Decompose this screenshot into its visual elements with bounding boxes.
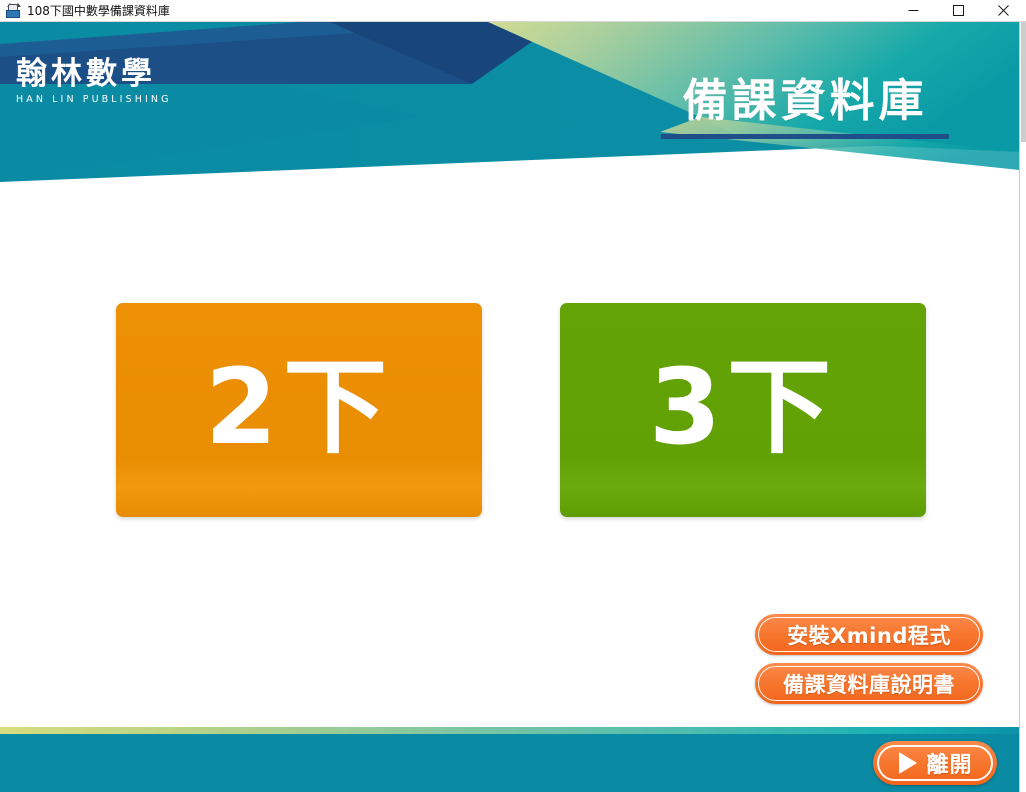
play-triangle-icon	[899, 752, 917, 774]
footer-bar: 離開	[0, 727, 1019, 792]
app-icon	[5, 3, 21, 19]
manual-button[interactable]: 備課資料庫說明書	[755, 663, 983, 704]
exit-label: 離開	[926, 747, 972, 779]
grade-selection-row: 2下 3下	[0, 303, 1019, 519]
footer-gradient-strip	[0, 727, 1019, 734]
header-banner: 翰林數學 HAN LIN PUBLISHING 備課資料庫	[0, 22, 1019, 182]
close-button[interactable]	[981, 0, 1026, 21]
grade-2-second-semester-button[interactable]: 2下	[116, 303, 482, 517]
maximize-button[interactable]	[936, 0, 981, 21]
grade-3-label: 3下	[649, 355, 837, 459]
grade-3-second-semester-button[interactable]: 3下	[560, 303, 926, 517]
exit-button[interactable]: 離開	[873, 741, 997, 785]
footer-background	[0, 734, 1019, 792]
window-controls	[891, 0, 1026, 21]
manual-label: 備課資料庫說明書	[783, 669, 955, 699]
utility-links: 安裝Xmind程式 備課資料庫說明書	[755, 614, 983, 704]
install-xmind-button[interactable]: 安裝Xmind程式	[755, 614, 983, 655]
title-underline	[661, 134, 949, 139]
scrollbar-thumb[interactable]	[1021, 22, 1026, 142]
minimize-button[interactable]	[891, 0, 936, 21]
page-title: 備課資料庫	[661, 78, 949, 123]
header-title-group: 備課資料庫	[661, 78, 949, 139]
window-title: 108下國中數學備課資料庫	[27, 0, 170, 22]
application-window: 108下國中數學備課資料庫	[0, 0, 1026, 792]
title-bar: 108下國中數學備課資料庫	[0, 0, 1026, 22]
install-xmind-label: 安裝Xmind程式	[787, 620, 951, 650]
main-content: 2下 3下 安裝Xmind程式 備課資料庫說明書	[0, 182, 1019, 727]
vertical-scrollbar[interactable]	[1019, 22, 1026, 792]
grade-2-label: 2下	[205, 355, 393, 459]
